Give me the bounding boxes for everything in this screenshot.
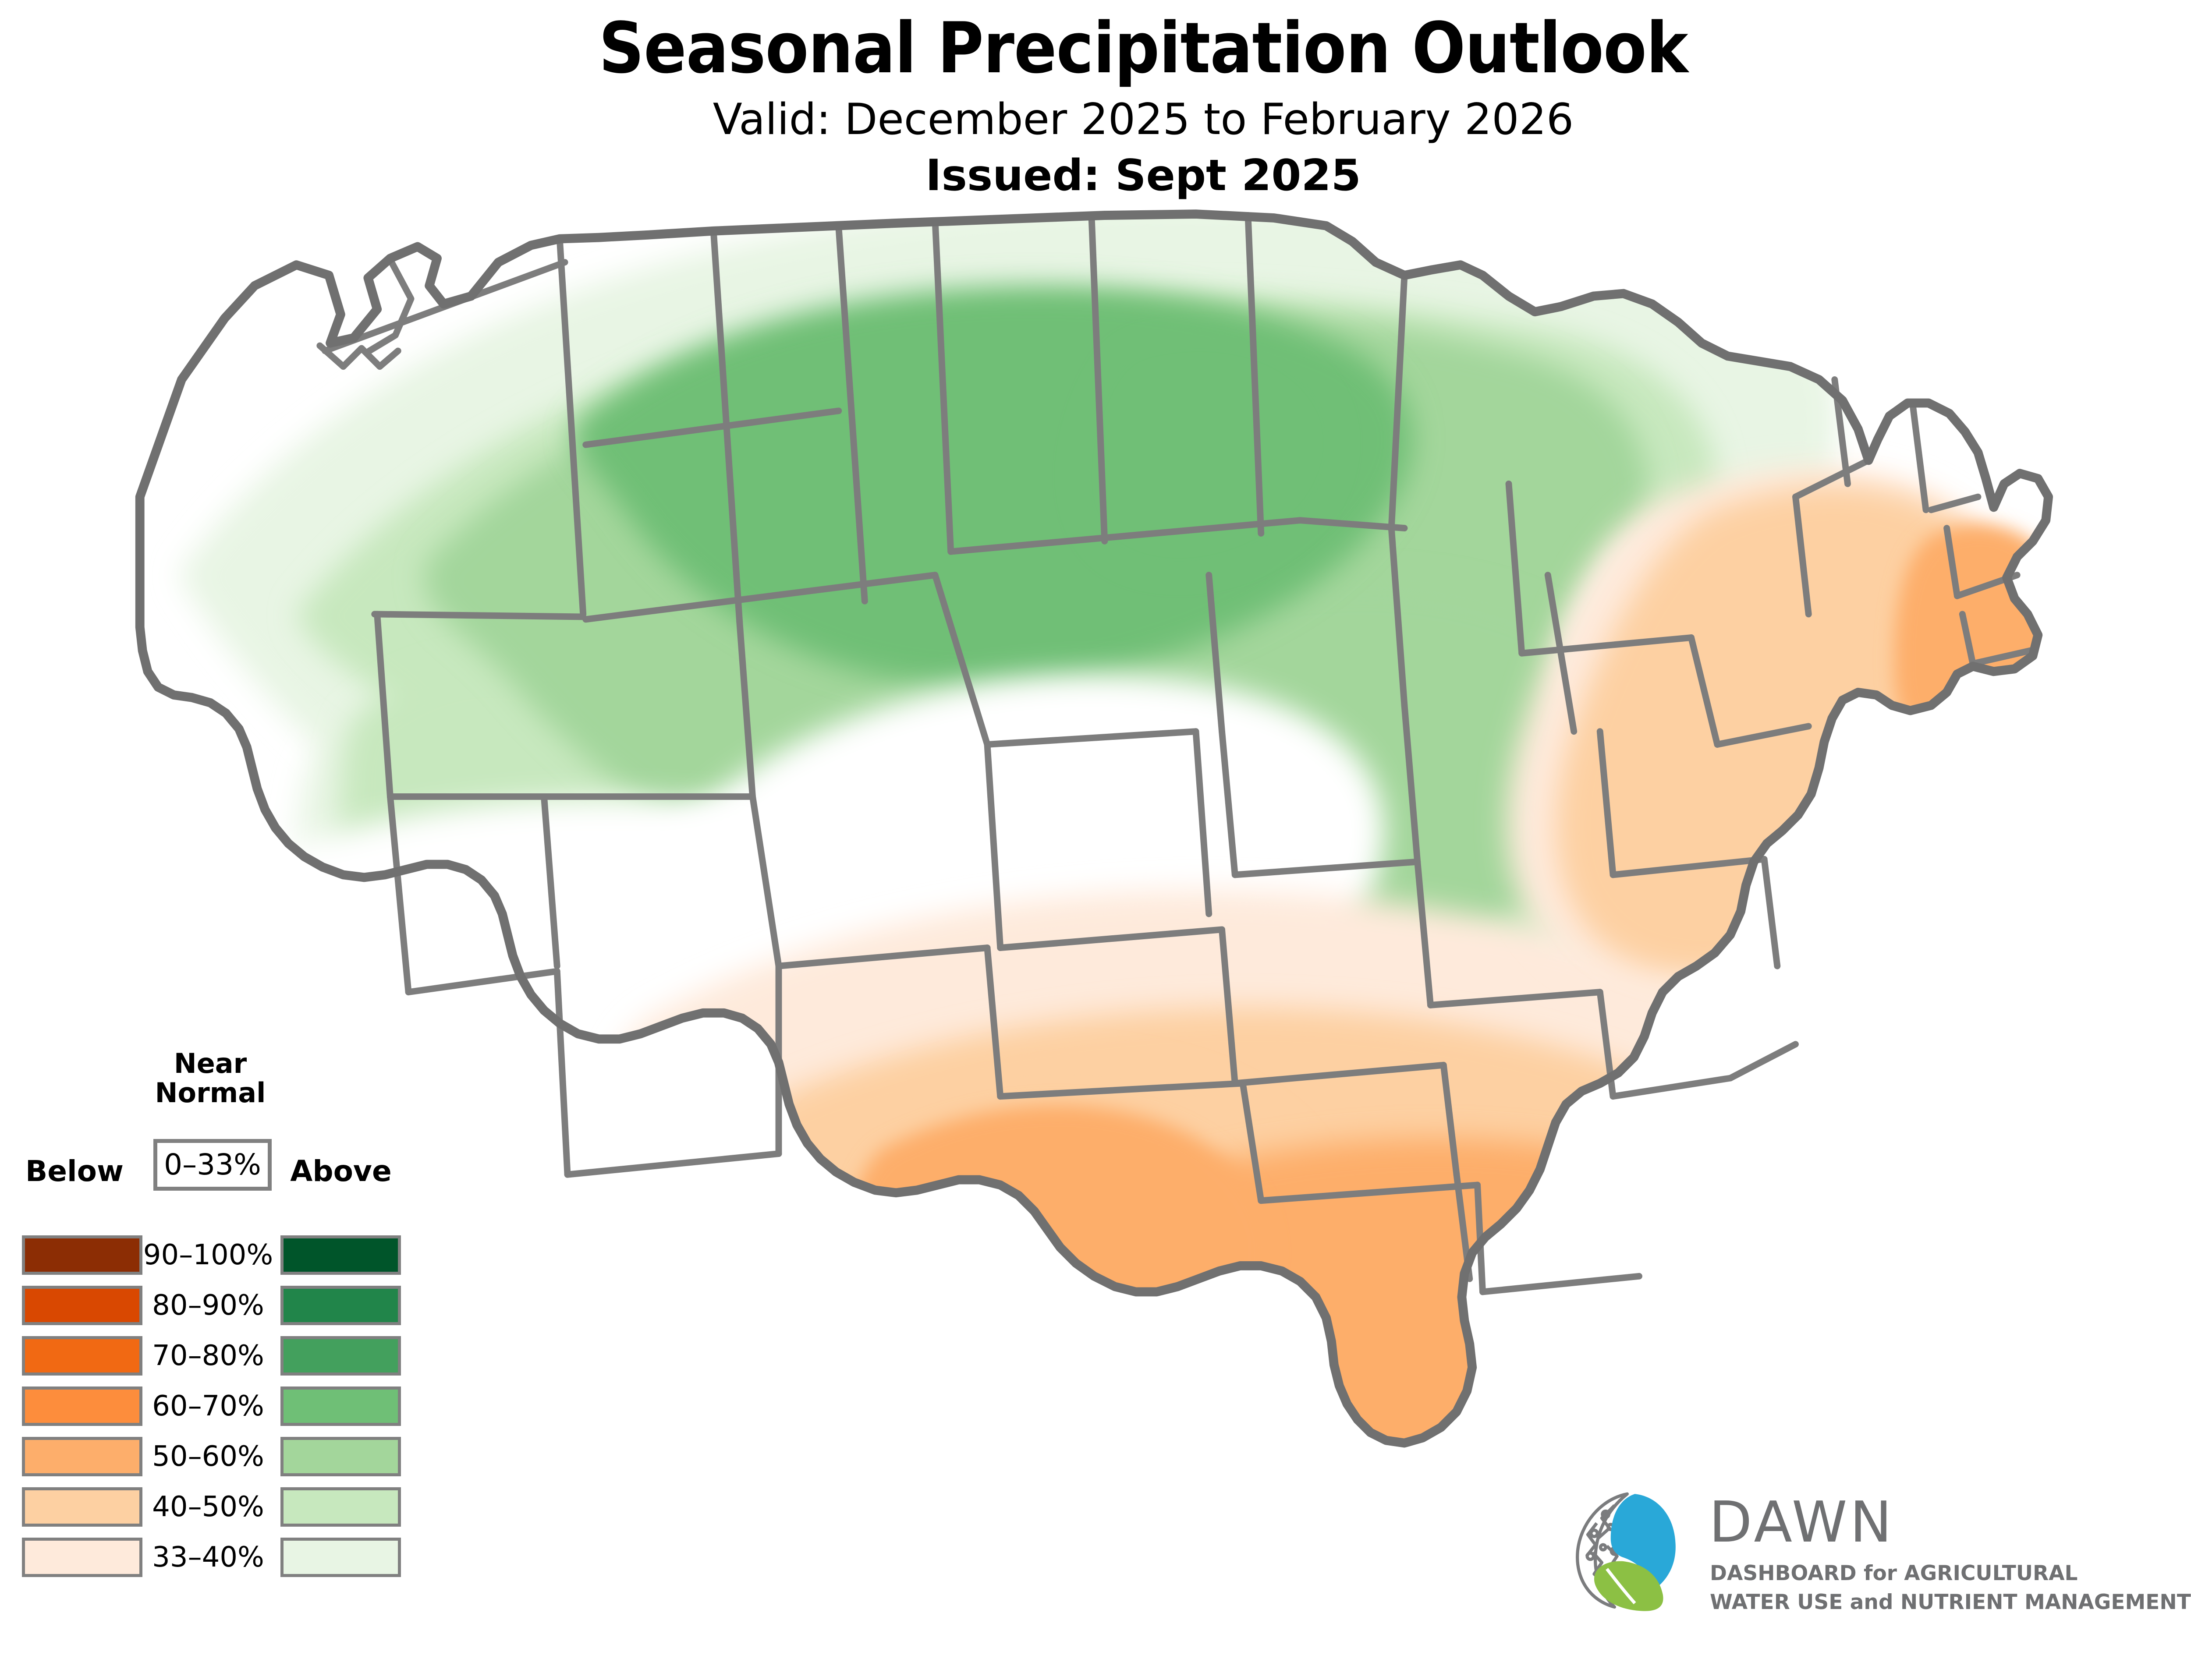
legend-range-label: 70–80%: [142, 1336, 274, 1376]
legend-row: 40–50%: [0, 1487, 421, 1527]
dawn-logo-mark: [1569, 1485, 1696, 1612]
legend-swatch-below: [22, 1487, 142, 1527]
legend-rows: 90–100%80–90%70–80%60–70%50–60%40–50%33–…: [0, 1235, 421, 1588]
legend-row: 80–90%: [0, 1286, 421, 1325]
legend-swatch-above: [280, 1538, 401, 1577]
legend-range-label: 80–90%: [142, 1286, 274, 1325]
legend-swatch-above: [280, 1437, 401, 1476]
probability-legend: NearNormal 0–33% Below Above 90–100%80–9…: [0, 1043, 421, 1612]
page-title: Seasonal Precipitation Outlook: [0, 13, 2191, 83]
dawn-tagline-line1: DASHBOARD for AGRICULTURAL: [1710, 1563, 2078, 1584]
legend-swatch-below: [22, 1336, 142, 1376]
legend-near-text-line2: Normal: [145, 1079, 276, 1108]
dawn-wordmark: DAWN: [1709, 1495, 1894, 1551]
legend-swatch-above: [280, 1487, 401, 1527]
legend-row: 90–100%: [0, 1235, 421, 1275]
legend-swatch-below: [22, 1386, 142, 1426]
legend-swatch-above: [280, 1386, 401, 1426]
valid-period-label: Valid: December 2025 to February 2026: [0, 98, 2191, 141]
legend-swatch-above: [280, 1235, 401, 1275]
dawn-tagline-line2: WATER USE and NUTRIENT MANAGEMENT: [1710, 1592, 2191, 1613]
legend-swatch-below: [22, 1437, 142, 1476]
legend-near-normal-value: 0–33%: [164, 1150, 261, 1179]
legend-swatch-above: [280, 1286, 401, 1325]
legend-swatch-below: [22, 1235, 142, 1275]
dawn-logo: DAWN DASHBOARD for AGRICULTURAL WATER US…: [1569, 1485, 2033, 1616]
legend-swatch-above: [280, 1336, 401, 1376]
legend-row: 60–70%: [0, 1386, 421, 1426]
legend-row: 33–40%: [0, 1538, 421, 1577]
legend-row: 50–60%: [0, 1437, 421, 1476]
legend-near-normal-box: 0–33%: [153, 1139, 272, 1191]
legend-range-label: 33–40%: [142, 1538, 274, 1577]
legend-swatch-below: [22, 1538, 142, 1577]
legend-range-label: 60–70%: [142, 1386, 274, 1426]
legend-range-label: 40–50%: [142, 1487, 274, 1527]
legend-swatch-below: [22, 1286, 142, 1325]
map-header: Seasonal Precipitation Outlook Valid: De…: [0, 0, 2191, 197]
legend-range-label: 90–100%: [142, 1235, 274, 1275]
legend-above-title: Above: [275, 1154, 407, 1188]
legend-row: 70–80%: [0, 1336, 421, 1376]
legend-near-text-line1: Near: [145, 1049, 276, 1079]
legend-near-normal-title: NearNormal: [145, 1049, 276, 1108]
legend-range-label: 50–60%: [142, 1437, 274, 1476]
legend-below-title: Below: [4, 1154, 145, 1188]
